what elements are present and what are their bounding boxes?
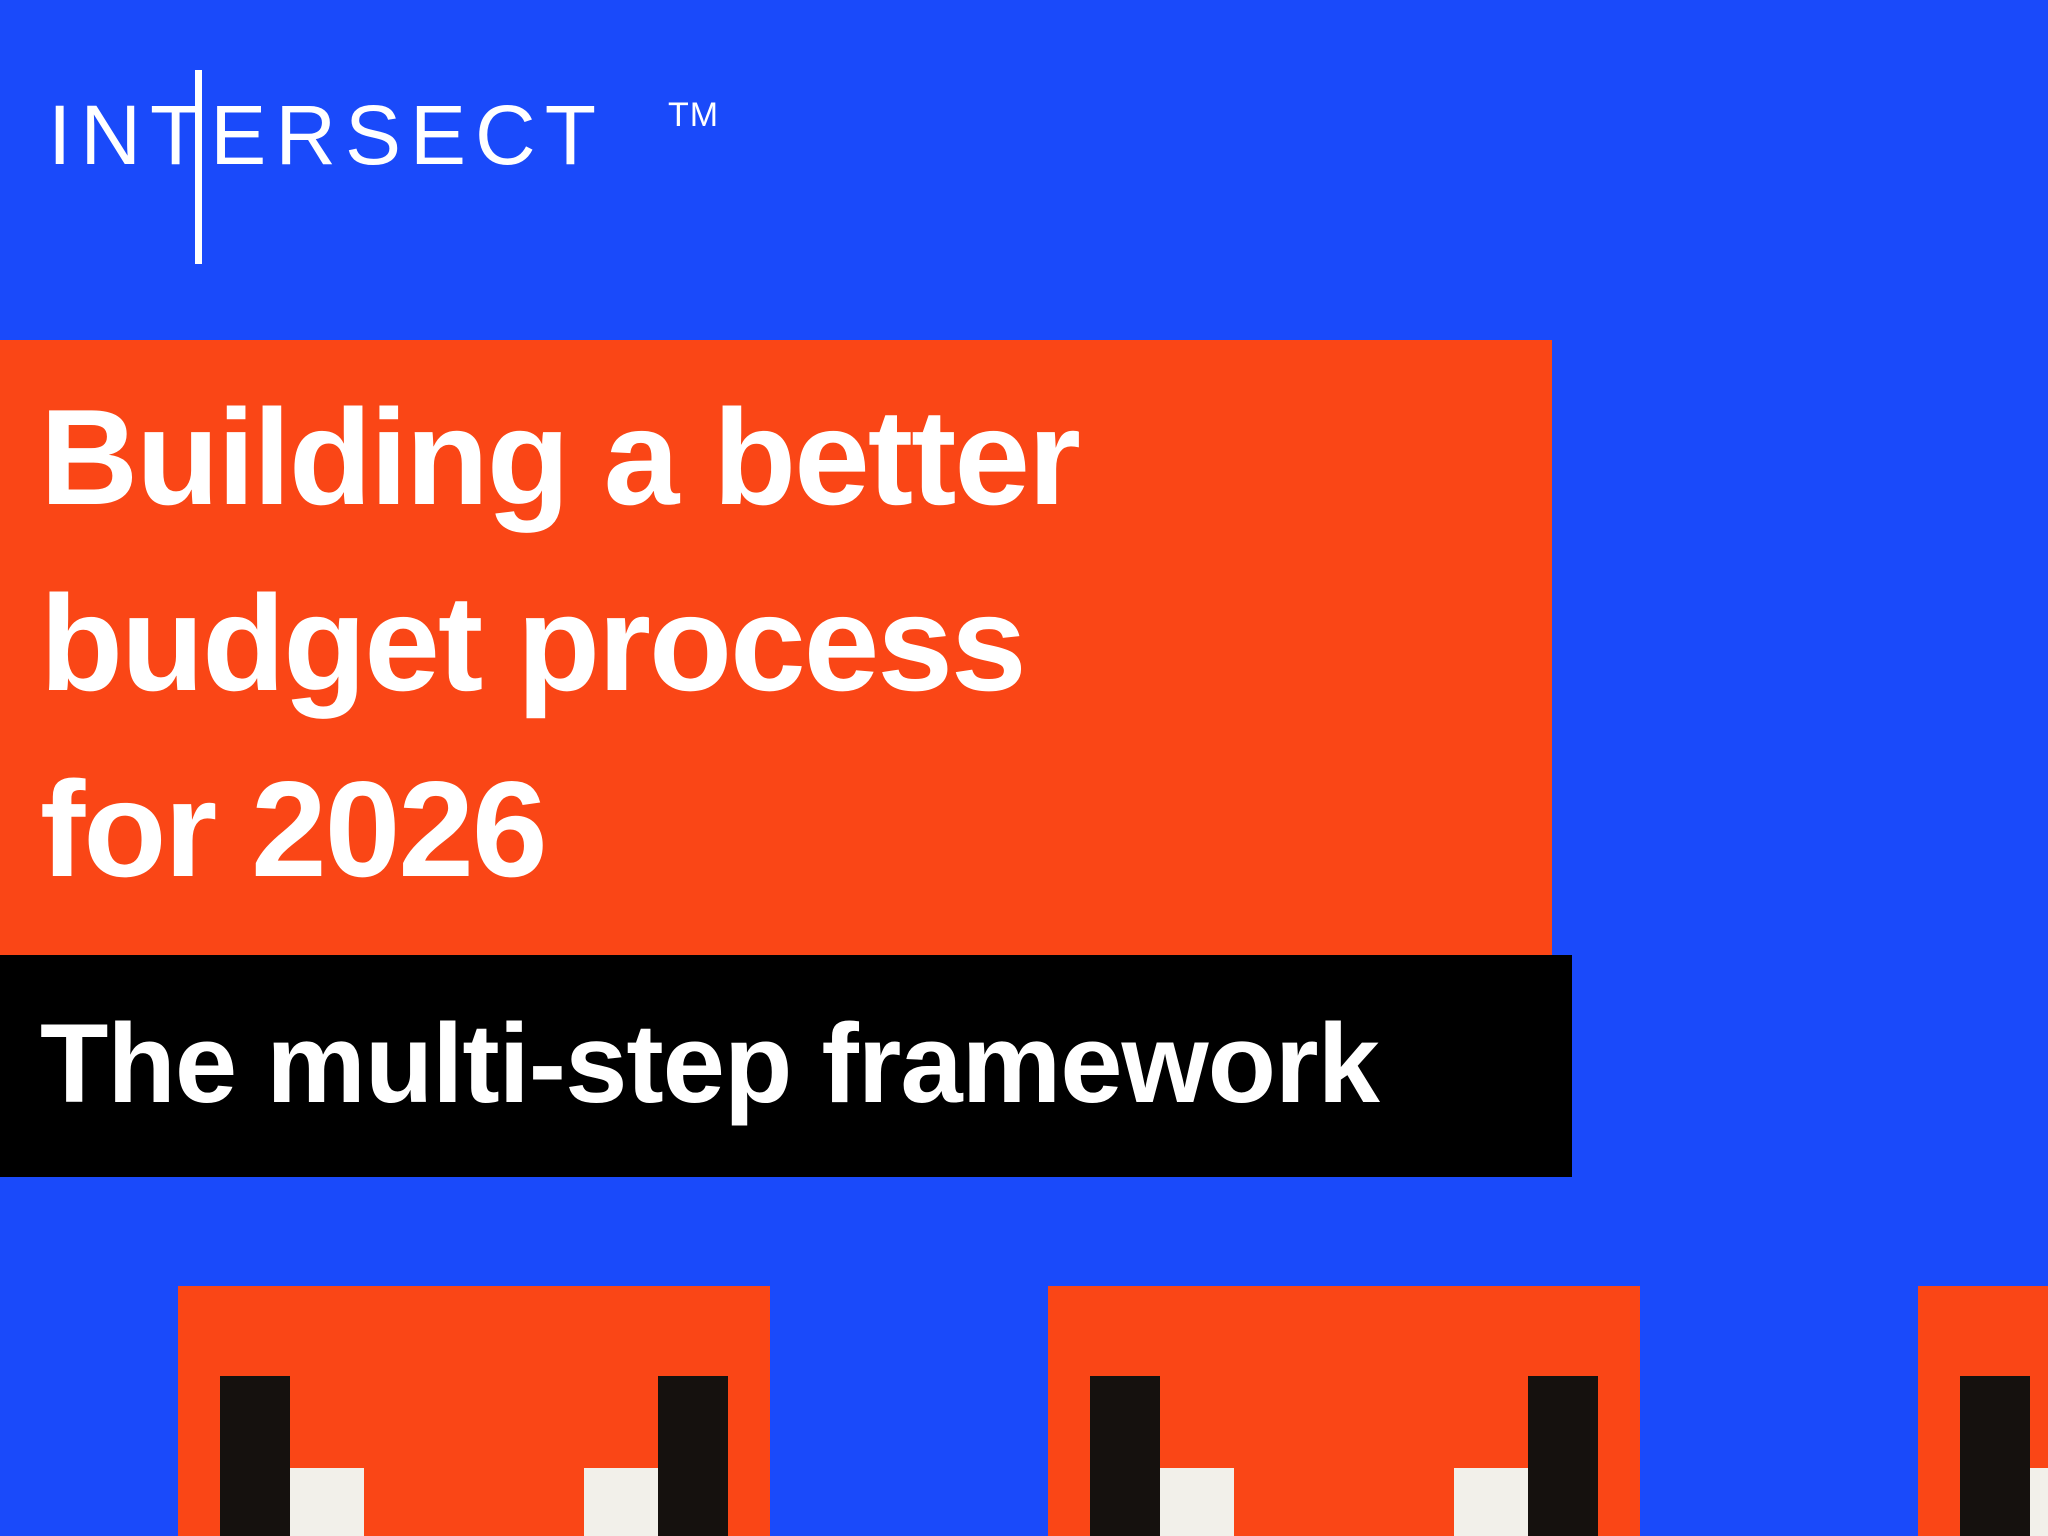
pixel-cheek-left-icon	[290, 1468, 364, 1536]
logo-wordmark: INTERSECT	[48, 92, 605, 178]
headline-block: Building a better budget process for 202…	[0, 340, 1552, 955]
pixel-eye-right-icon	[658, 1376, 728, 1536]
pixel-cheek-left-icon	[2030, 1468, 2048, 1536]
page-title: Building a better budget process for 202…	[40, 364, 1530, 922]
page-subtitle: The multi-step framework	[40, 991, 1560, 1137]
intersect-logo: INTERSECT TM	[48, 92, 748, 192]
pixel-character-3	[1918, 1286, 2048, 1536]
pixel-eye-left-icon	[1960, 1376, 2030, 1536]
pixel-character-1	[178, 1286, 770, 1536]
pixel-character-2	[1048, 1286, 1640, 1536]
pixel-cheek-right-icon	[584, 1468, 658, 1536]
pixel-eye-left-icon	[220, 1376, 290, 1536]
pixel-eye-right-icon	[1528, 1376, 1598, 1536]
pixel-eye-left-icon	[1090, 1376, 1160, 1536]
pixel-character-row	[0, 1286, 2048, 1536]
logo-vertical-stroke-icon	[195, 70, 202, 264]
pixel-cheek-left-icon	[1160, 1468, 1234, 1536]
trademark-symbol: TM	[668, 98, 719, 132]
subtitle-block: The multi-step framework	[0, 955, 1572, 1177]
pixel-cheek-right-icon	[1454, 1468, 1528, 1536]
presentation-slide: INTERSECT TM Building a better budget pr…	[0, 0, 2048, 1536]
